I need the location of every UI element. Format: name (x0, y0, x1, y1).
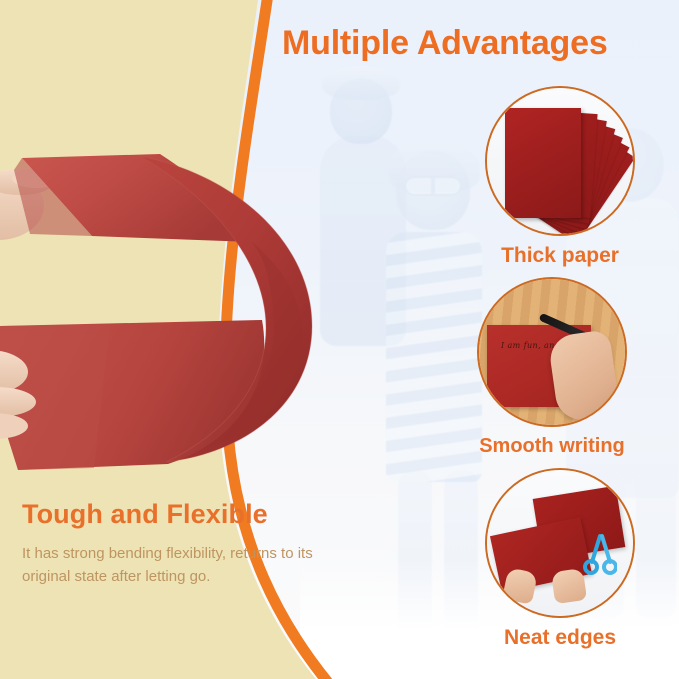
left-panel-body: It has strong bending flexibility, retur… (22, 542, 332, 589)
neat-edges-badge (485, 468, 635, 618)
scissors-icon (583, 532, 617, 576)
hand-right-icon (551, 568, 587, 604)
stacked-paper-sheets-icon (487, 88, 633, 234)
feature-label-smooth-writing: Smooth writing (452, 435, 652, 458)
feature-thick-paper: Thick paper fanned stack of dark red car… (460, 86, 660, 268)
page-title: Multiple Advantages (282, 24, 674, 63)
feature-label-thick-paper: Thick paper (460, 244, 660, 268)
hand-writing-pen-icon: I am fun, and ... (479, 279, 625, 425)
product-infographic-poster: faded photo of children wearing sunglass… (0, 0, 679, 679)
left-text-block: Tough and Flexible It has strong bending… (22, 500, 342, 588)
feature-neat-edges: Neat edges two red sheets held by hands … (460, 468, 660, 650)
feature-label-neat-edges: Neat edges (460, 626, 660, 650)
sunglasses-icon (404, 176, 462, 196)
bent-paper-product-photo: bent-red-paper-held-by-hands (0, 150, 340, 480)
left-panel-title: Tough and Flexible (22, 500, 342, 530)
cut-sheets-scissors-icon (487, 470, 633, 616)
smooth-writing-badge: I am fun, and ... (477, 277, 627, 427)
feature-smooth-writing: I am fun, and ... Smooth writing hand wr… (452, 277, 652, 458)
thick-paper-badge (485, 86, 635, 236)
